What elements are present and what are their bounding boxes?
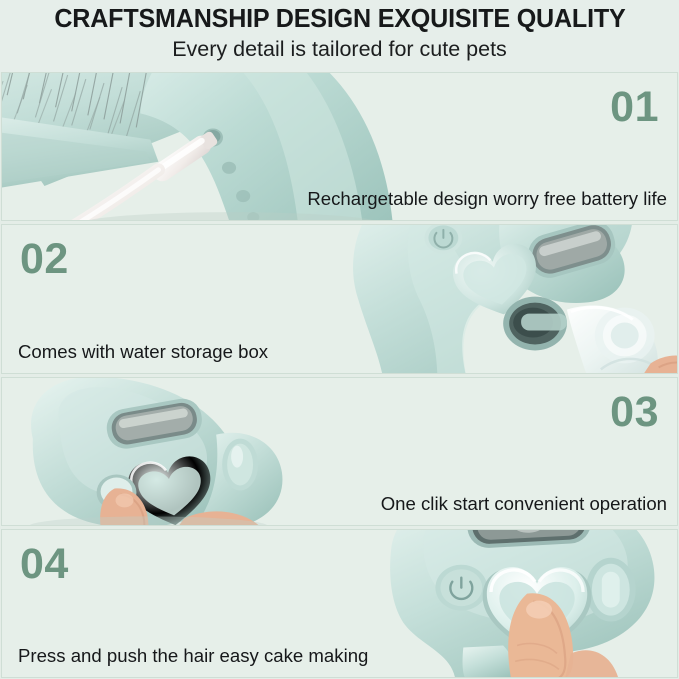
header: CRAFTSMANSHIP DESIGN EXQUISITE QUALITY E… — [0, 0, 679, 72]
panel-number-04: 04 — [20, 543, 69, 586]
panel-number-02: 02 — [20, 238, 69, 281]
water-storage-box-insert-photo — [272, 225, 678, 372]
feature-panel-list: 01 Rechargetable design worry free batte… — [0, 72, 679, 679]
finger-pressing-power-button-photo — [1, 378, 407, 525]
panel-caption-01: Rechargetable design worry free battery … — [307, 188, 667, 210]
page-subtitle: Every detail is tailored for cute pets — [172, 35, 507, 64]
panel-caption-04: Press and push the hair easy cake making — [18, 645, 368, 667]
feature-panel-04: 04 Press and push the hair easy cake mak… — [1, 529, 678, 678]
panel-caption-02: Comes with water storage box — [18, 341, 268, 363]
product-feature-infographic: CRAFTSMANSHIP DESIGN EXQUISITE QUALITY E… — [0, 0, 679, 679]
panel-caption-03: One clik start convenient operation — [381, 493, 667, 515]
panel-number-01: 01 — [610, 86, 659, 129]
panel-number-03: 03 — [610, 391, 659, 434]
page-title: CRAFTSMANSHIP DESIGN EXQUISITE QUALITY — [54, 4, 625, 35]
feature-panel-01: 01 Rechargetable design worry free batte… — [1, 72, 678, 221]
feature-panel-03: 03 One clik start convenient operation — [1, 377, 678, 526]
feature-panel-02: 02 Comes with water storage box — [1, 224, 678, 373]
